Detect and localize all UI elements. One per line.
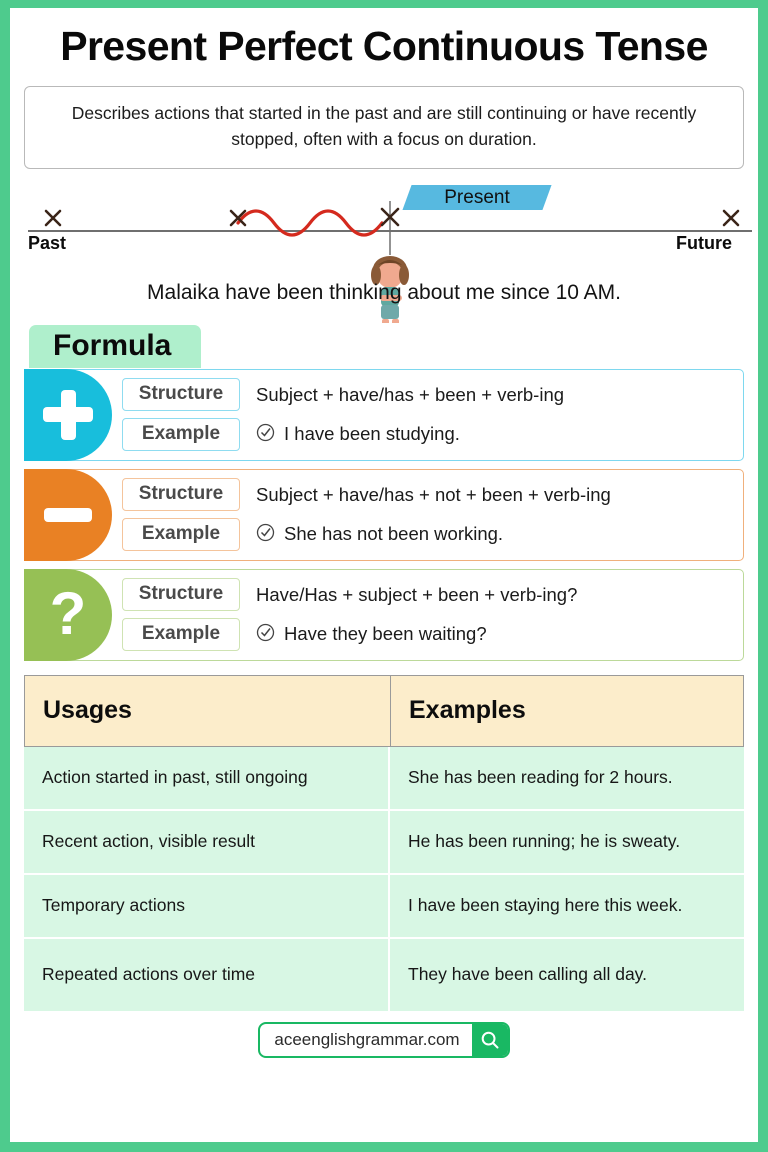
formula-badge: Formula	[29, 325, 201, 369]
timeline-x-markers	[46, 209, 738, 225]
formula-card-positive: Structure Subject + have/has + been + ve…	[24, 369, 744, 461]
table-body: Action started in past, still ongoing Sh…	[24, 747, 744, 1013]
check-circle-icon	[256, 623, 275, 647]
plus-icon-bar-v	[61, 390, 76, 440]
table-row: Recent action, visible result He has bee…	[24, 811, 744, 875]
table-cell-example: She has been reading for 2 hours.	[390, 747, 744, 811]
structure-text: Subject + have/has + been + verb-ing	[240, 384, 564, 406]
example-text-wrap: She has not been working.	[240, 523, 503, 547]
timeline-example-sentence: Malaika have been thinking about me sinc…	[24, 281, 744, 305]
formula-card-negative-rows: Structure Subject + have/has + not + bee…	[112, 470, 743, 560]
structure-text: Subject + have/has + not + been + verb-i…	[240, 484, 611, 506]
structure-tag: Structure	[122, 378, 240, 411]
table-header-row: Usages Examples	[24, 675, 744, 747]
minus-icon	[24, 469, 112, 561]
present-banner-label: Present	[407, 185, 547, 210]
structure-tag: Structure	[122, 578, 240, 611]
timeline-past-label: Past	[28, 233, 66, 254]
formula-badge-area: Formula	[24, 325, 744, 369]
example-row: Example She has not been working.	[122, 515, 735, 555]
example-tag: Example	[122, 618, 240, 651]
page-title: Present Perfect Continuous Tense	[24, 8, 744, 67]
structure-row: Structure Have/Has + subject + been + ve…	[122, 575, 735, 615]
check-circle-icon	[256, 523, 275, 547]
minus-icon-bar	[44, 508, 92, 522]
table-header-usages: Usages	[24, 675, 390, 747]
example-tag: Example	[122, 418, 240, 451]
table-cell-usage: Recent action, visible result	[24, 811, 390, 875]
example-row: Example I have been studying.	[122, 415, 735, 455]
example-text: Have they been waiting?	[284, 623, 487, 644]
brand-url: aceenglishgrammar.com	[260, 1024, 471, 1056]
timeline-future-label: Future	[676, 233, 732, 254]
example-row: Example Have they been waiting?	[122, 615, 735, 655]
example-text: I have been studying.	[284, 423, 460, 444]
table-cell-usage: Repeated actions over time	[24, 939, 390, 1013]
table-row: Temporary actions I have been staying he…	[24, 875, 744, 939]
table-header-examples: Examples	[390, 675, 744, 747]
formula-cards: Structure Subject + have/has + been + ve…	[24, 369, 744, 661]
table-cell-example: They have been calling all day.	[390, 939, 744, 1013]
description-text: Describes actions that started in the pa…	[72, 103, 697, 149]
question-mark-icon: ?	[24, 569, 112, 661]
example-tag: Example	[122, 518, 240, 551]
poster-sheet: Present Perfect Continuous Tense Describ…	[10, 8, 758, 1142]
table-cell-usage: Temporary actions	[24, 875, 390, 939]
question-mark-glyph: ?	[50, 584, 87, 644]
formula-card-question-rows: Structure Have/Has + subject + been + ve…	[112, 570, 743, 660]
structure-tag: Structure	[122, 478, 240, 511]
example-text-wrap: Have they been waiting?	[240, 623, 487, 647]
usage-table: Usages Examples Action started in past, …	[24, 675, 744, 1013]
brand-pill[interactable]: aceenglishgrammar.com	[258, 1022, 509, 1058]
check-circle-icon	[256, 423, 275, 447]
formula-card-positive-rows: Structure Subject + have/has + been + ve…	[112, 370, 743, 460]
structure-row: Structure Subject + have/has + not + bee…	[122, 475, 735, 515]
table-cell-example: He has been running; he is sweaty.	[390, 811, 744, 875]
description-box: Describes actions that started in the pa…	[24, 86, 744, 169]
formula-card-negative: Structure Subject + have/has + not + bee…	[24, 469, 744, 561]
structure-text: Have/Has + subject + been + verb-ing?	[240, 584, 577, 606]
poster-frame: Present Perfect Continuous Tense Describ…	[0, 0, 768, 1152]
structure-row: Structure Subject + have/has + been + ve…	[122, 375, 735, 415]
present-banner: Present	[402, 185, 551, 210]
table-cell-example: I have been staying here this week.	[390, 875, 744, 939]
table-row: Repeated actions over time They have bee…	[24, 939, 744, 1013]
timeline: Present Past Future Malaika have been th…	[24, 183, 744, 323]
table-row: Action started in past, still ongoing Sh…	[24, 747, 744, 811]
plus-icon	[24, 369, 112, 461]
example-text: She has not been working.	[284, 523, 503, 544]
footer: aceenglishgrammar.com	[24, 1022, 744, 1058]
table-cell-usage: Action started in past, still ongoing	[24, 747, 390, 811]
search-icon[interactable]	[472, 1024, 508, 1056]
example-text-wrap: I have been studying.	[240, 423, 460, 447]
formula-card-question: ? Structure Have/Has + subject + been + …	[24, 569, 744, 661]
